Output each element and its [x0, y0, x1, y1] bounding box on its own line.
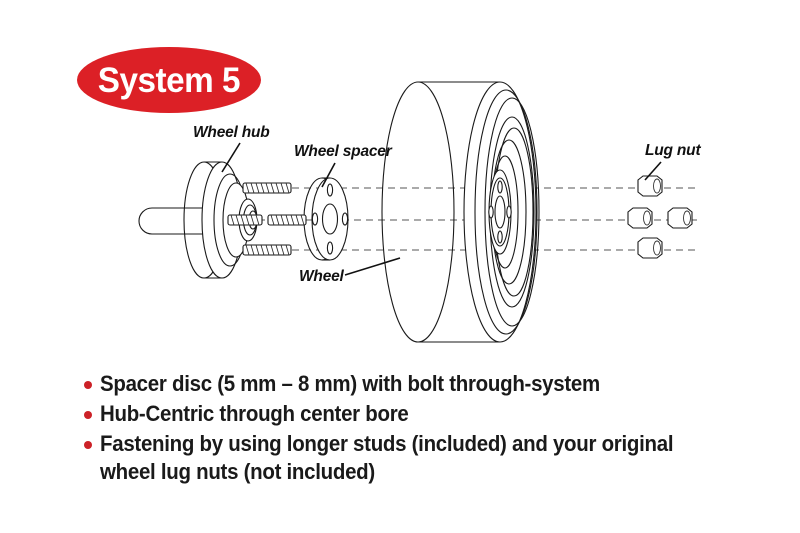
- spacer-bolt-hole-top: [327, 184, 332, 196]
- spacer-center-bore: [323, 204, 338, 234]
- list-item: Hub-Centric through center bore: [84, 400, 764, 428]
- wheel-bolt-hole-bottom: [498, 231, 502, 243]
- leader-wheel: [345, 258, 400, 275]
- wheel-assembly: [382, 82, 539, 342]
- wheel-center-bore: [495, 196, 505, 228]
- callout-wheel: Wheel: [299, 268, 344, 286]
- wheel-spacer-part: [304, 178, 348, 260]
- list-item: Spacer disc (5 mm – 8 mm) with bolt thro…: [84, 370, 764, 398]
- list-item: Fastening by using longer studs (include…: [84, 430, 764, 486]
- feature-list: Spacer disc (5 mm – 8 mm) with bolt thro…: [84, 370, 764, 488]
- wheel-stud-lower: [243, 245, 291, 255]
- wheel-bolt-hole-top: [498, 181, 502, 193]
- spacer-bolt-hole-bottom: [327, 242, 332, 254]
- feature-text-1: Spacer disc (5 mm – 8 mm) with bolt thro…: [100, 370, 600, 398]
- feature-text-2: Hub-Centric through center bore: [100, 400, 408, 428]
- wheel-stud-upper: [243, 183, 291, 193]
- bullet-dot-icon: [84, 381, 92, 389]
- feature-text-3: Fastening by using longer studs (include…: [100, 430, 673, 486]
- spacer-bolt-hole-left: [312, 213, 317, 225]
- wheel-stud-middle: [228, 215, 306, 225]
- stud-middle-body-left: [228, 215, 262, 225]
- assembly-diagram: .ln { fill:none; stroke:#1a1a1a; stroke-…: [0, 0, 800, 360]
- diagram-page: System 5 .ln { fill:none; stroke:#1a1a1a…: [0, 0, 800, 533]
- callout-lug-nut: Lug nut: [645, 142, 700, 160]
- wheel-bolt-hole-right: [507, 206, 511, 218]
- tire-back-edge: [382, 82, 454, 342]
- callout-wheel-hub: Wheel hub: [193, 124, 270, 142]
- lug-nut-middle-right: [668, 208, 692, 228]
- lug-nut-middle-left: [628, 208, 652, 228]
- lug-nut-upper: [638, 176, 662, 196]
- spacer-bolt-hole-right: [342, 213, 347, 225]
- bullet-dot-icon: [84, 441, 92, 449]
- callout-wheel-spacer: Wheel spacer: [294, 143, 392, 161]
- wheel-bolt-hole-left: [489, 206, 493, 218]
- wheel-hub-part: [139, 162, 306, 278]
- lug-nut-lower: [638, 238, 662, 258]
- bullet-dot-icon: [84, 411, 92, 419]
